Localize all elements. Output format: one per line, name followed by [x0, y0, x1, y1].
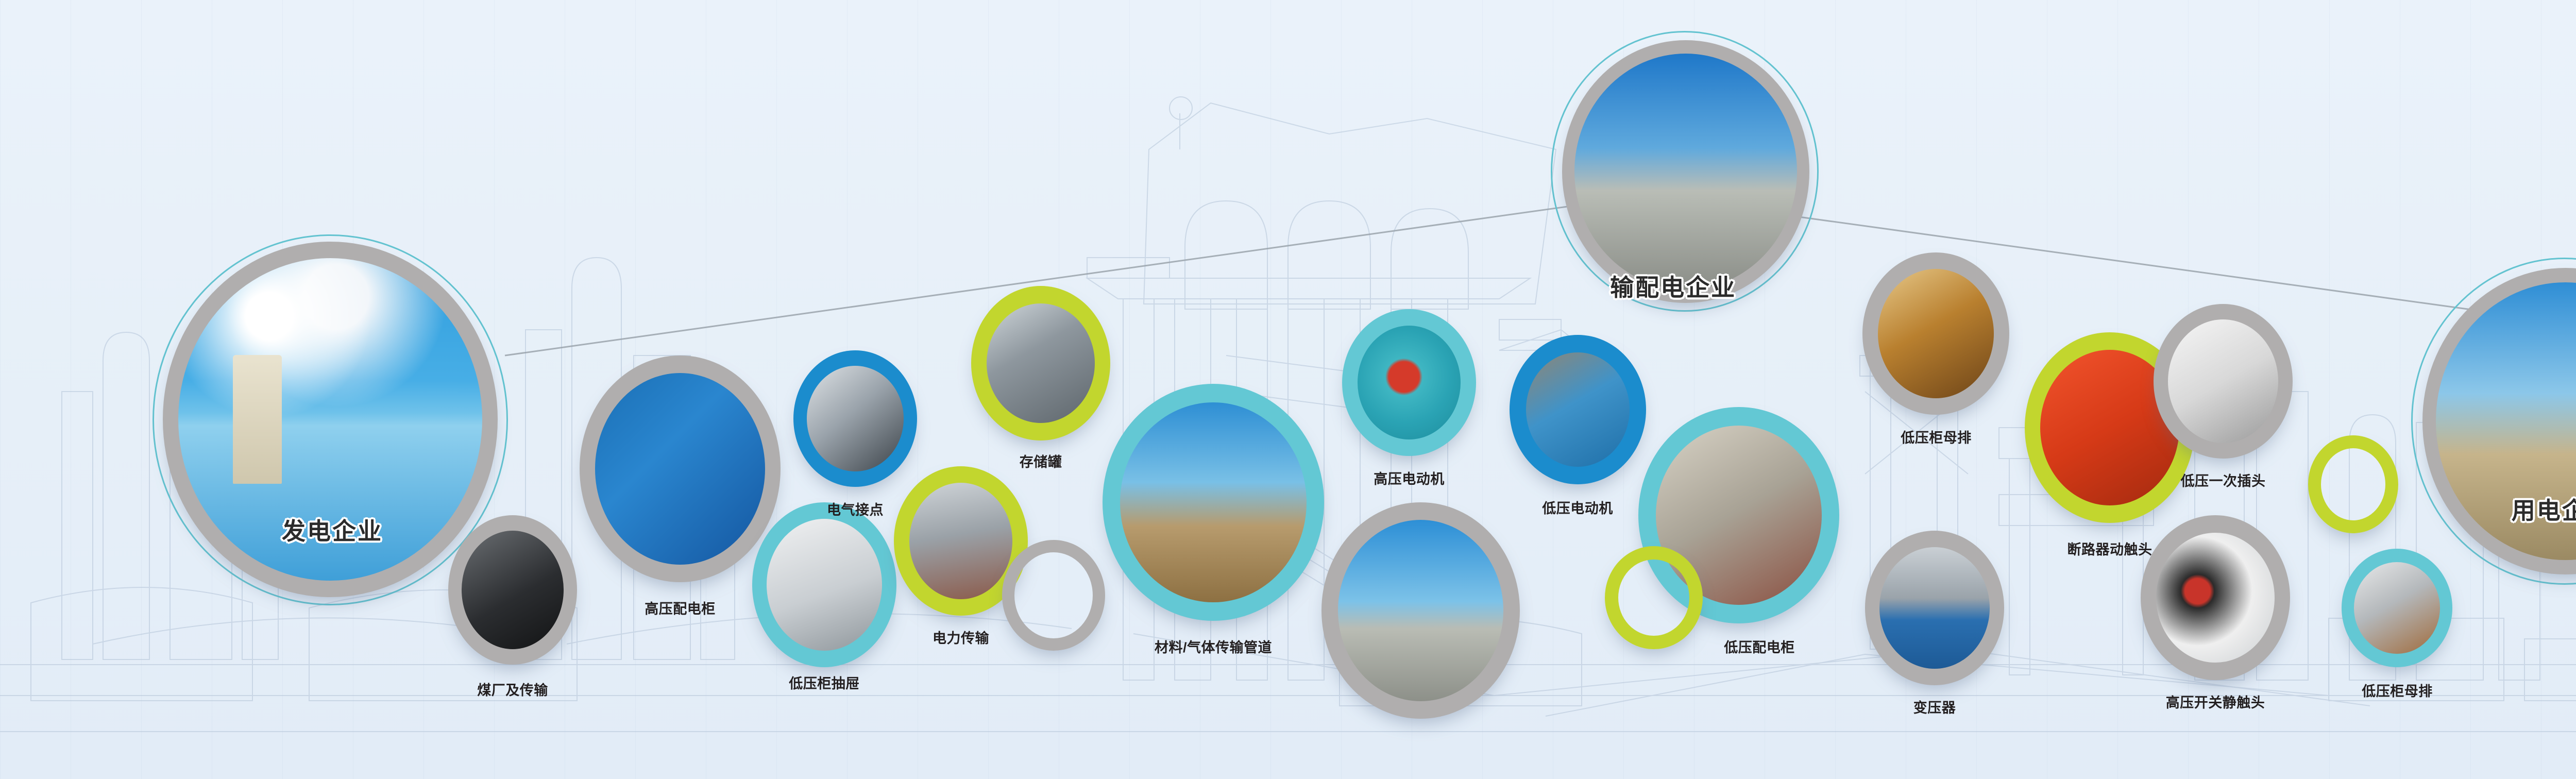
photo-coal-conveyor: [462, 531, 564, 649]
node-lv-cabinet-drawer[interactable]: 低压柜抽屉: [752, 502, 896, 667]
ring-lv-cabinet-drawer[interactable]: [752, 502, 896, 667]
photo-lv-motor: [1526, 352, 1630, 467]
caption-lv-cabinet-drawer: 低压柜抽屉: [789, 672, 860, 692]
node-process-plant[interactable]: [1321, 502, 1520, 719]
photo-copper-busbar: [1878, 269, 1994, 398]
caption-lv-cabinet-busbar-top: 低压柜母排: [1901, 427, 1972, 447]
ring-lv-cabinet-busbar[interactable]: [2342, 549, 2452, 667]
node-hv-switch-static-contact[interactable]: 高压开关静触头: [2141, 515, 2290, 680]
caption-hv-motor: 高压电动机: [1374, 468, 1445, 488]
photo-substation: [1574, 54, 1797, 290]
photo-lv-busbar: [2354, 562, 2440, 654]
node-empty-ring-lime-right: [2308, 435, 2398, 533]
ring-coal-plant-transport[interactable]: [448, 515, 577, 665]
node-storage-tank[interactable]: 存储罐: [971, 286, 1110, 441]
photo-electrical-contacts: [807, 366, 904, 471]
ring-material-gas-pipeline[interactable]: [1103, 384, 1324, 621]
caption-hv-distribution-cabinet: 高压配电柜: [645, 598, 716, 618]
caption-lv-primary-plug: 低压一次插头: [2181, 470, 2266, 490]
photo-lv-drawer: [767, 519, 882, 651]
ring-transformer[interactable]: [1865, 531, 2004, 685]
node-lv-cabinet-busbar-top[interactable]: 低压柜母排: [1862, 252, 2009, 415]
node-coal-plant-transport[interactable]: 煤厂及传输: [448, 515, 577, 665]
node-lv-primary-plug[interactable]: 低压一次插头: [2154, 304, 2293, 459]
caption-material-gas-pipeline: 材料/气体传输管道: [1155, 636, 1272, 656]
photo-hv-motor: [1358, 326, 1461, 439]
hero-label-power-consumer: 用电企业: [2512, 492, 2576, 526]
caption-electrical-contact: 电气接点: [827, 499, 884, 519]
ring-lv-cabinet-busbar-top[interactable]: [1862, 252, 2009, 415]
hero-label-transmission-distribution: 输配电企业: [1610, 269, 1736, 303]
node-hv-distribution-cabinet[interactable]: 高压配电柜: [580, 355, 781, 582]
ring-lv-motor[interactable]: [1510, 335, 1646, 484]
node-hv-motor[interactable]: 高压电动机: [1342, 309, 1476, 456]
empty-ring-lime-mid: [1605, 546, 1703, 649]
caption-coal-plant-transport: 煤厂及传输: [477, 679, 548, 699]
caption-breaker-moving-contact: 断路器动触头: [2067, 538, 2153, 558]
poster-canvas: 发电企业 输配电企业 用电企业 煤厂及传输 高压配电柜 低压柜: [0, 0, 2576, 779]
ring-storage-tank[interactable]: [971, 286, 1110, 441]
ring-process-plant[interactable]: [1321, 502, 1520, 719]
photo-storage-tank: [987, 303, 1095, 423]
empty-ring-grey: [1002, 540, 1105, 651]
node-transmission-distribution[interactable]: 输配电企业: [1551, 31, 1829, 319]
photo-transmission-yard: [909, 483, 1012, 599]
empty-ring-lime-right: [2308, 435, 2398, 533]
caption-transformer: 变压器: [1913, 697, 1956, 717]
hero-label-power-generation: 发电企业: [282, 513, 383, 547]
caption-lv-distribution-cabinet: 低压配电柜: [1724, 636, 1795, 656]
node-material-gas-pipeline[interactable]: 材料/气体传输管道: [1103, 384, 1324, 621]
photo-primary-plug: [2168, 319, 2278, 443]
photo-process-plant: [1338, 520, 1503, 701]
photo-pipeline-rack: [1120, 402, 1307, 602]
ring-lv-primary-plug[interactable]: [2154, 304, 2293, 459]
caption-hv-switch-static-contact: 高压开关静触头: [2166, 691, 2265, 712]
node-lv-motor[interactable]: 低压电动机: [1510, 335, 1646, 484]
node-empty-ring-lime-mid: [1605, 546, 1703, 649]
ring-power-consumer[interactable]: [2422, 268, 2576, 574]
caption-power-transmission: 电力传输: [933, 627, 989, 647]
caption-lv-cabinet-busbar: 低压柜母排: [2362, 680, 2433, 700]
ring-transmission-distribution[interactable]: [1562, 40, 1809, 303]
photo-hv-switchgear: [595, 373, 765, 565]
node-power-consumer[interactable]: 用电企业: [2411, 258, 2576, 587]
caption-lv-motor: 低压电动机: [1542, 497, 1613, 517]
node-transformer[interactable]: 变压器: [1865, 531, 2004, 685]
ring-hv-switch-static-contact[interactable]: [2141, 515, 2290, 680]
node-empty-ring-grey: [1002, 540, 1105, 651]
photo-transformer: [1879, 547, 1990, 669]
photo-static-contact: [2156, 533, 2275, 663]
ring-hv-distribution-cabinet[interactable]: [580, 355, 781, 582]
node-lv-cabinet-busbar[interactable]: 低压柜母排: [2342, 549, 2452, 667]
ring-hv-motor[interactable]: [1342, 309, 1476, 456]
